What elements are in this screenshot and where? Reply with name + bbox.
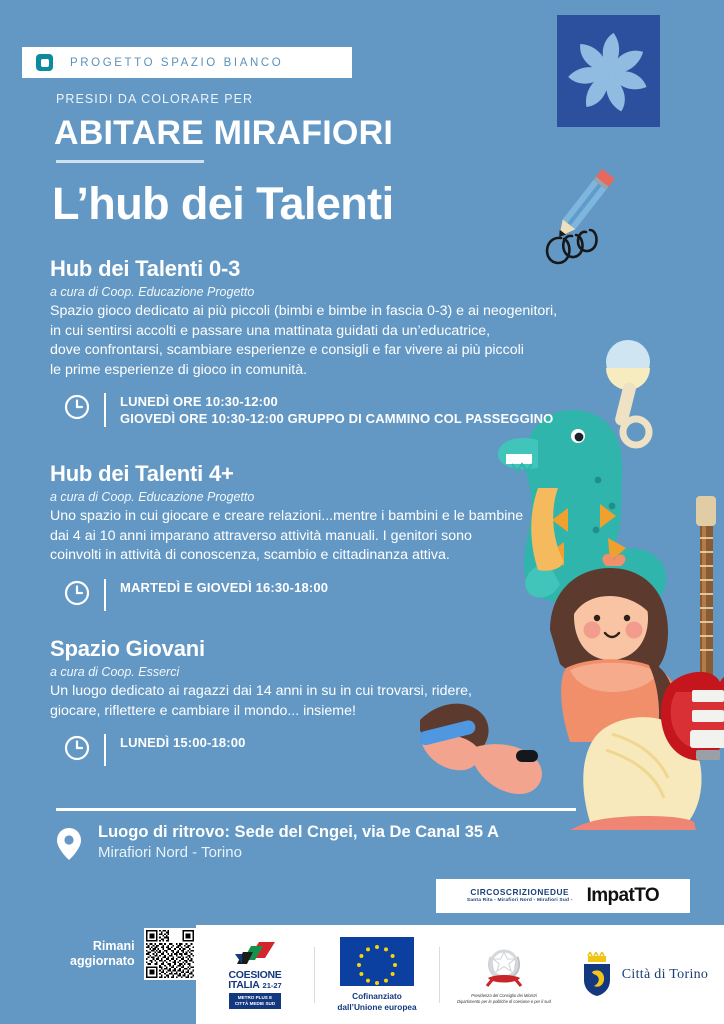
brand-label: PROGETTO SPAZIO BIANCO — [70, 57, 283, 69]
footer-logo-bar: COESIONE ITALIA 21-27 METRO PLUS E CITTÀ… — [196, 925, 724, 1024]
section-subtitle: a cura di Coop. Esserci — [50, 665, 610, 679]
section-title: Hub dei Talenti 0-3 — [50, 256, 610, 282]
schedule-text: LUNEDÌ 15:00-18:00 — [120, 734, 246, 751]
coesione-year: 21-27 — [263, 981, 282, 990]
schedule-row: LUNEDÌ 15:00-18:00 — [50, 734, 610, 766]
title-underline — [56, 160, 204, 163]
eu-caption: Cofinanziato dall’Unione europea — [337, 991, 416, 1012]
coesione-ribbon: METRO PLUS E CITTÀ MEDIE SUD — [229, 993, 281, 1010]
pinwheel-logo — [557, 15, 660, 127]
location-address: Luogo di ritrovo: Sede del Cngei, via De… — [98, 823, 499, 842]
section-title: Hub dei Talenti 4+ — [50, 461, 610, 487]
coesione-mark-icon — [231, 940, 279, 970]
location-divider — [56, 808, 576, 811]
schedule-line: GIOVEDÌ ORE 10:30-12:00 GRUPPO DI CAMMIN… — [120, 410, 553, 427]
pencil-doodle-icon — [520, 160, 630, 270]
body-line: le prime esperienze di gioco in comunità… — [50, 361, 610, 381]
rattle-illustration — [606, 340, 650, 445]
coesione-italia-logo: COESIONE ITALIA 21-27 METRO PLUS E CITTÀ… — [196, 940, 314, 1010]
schedule-line: MARTEDÌ E GIOVEDÌ 16:30-18:00 — [120, 579, 328, 596]
clock-icon — [64, 580, 90, 611]
section-hub-4plus: Hub dei Talenti 4+ a cura di Coop. Educa… — [50, 461, 610, 611]
divider — [104, 734, 106, 766]
coesione-line2: ITALIA — [228, 980, 259, 991]
section-body: Spazio gioco dedicato ai più piccoli (bi… — [50, 302, 610, 380]
body-line: Uno spazio in cui giocare e creare relaz… — [50, 507, 610, 527]
body-line: coinvolti in attività di conoscenza, sca… — [50, 546, 610, 566]
kicker-text: PRESIDI DA COLORARE PER — [56, 92, 253, 106]
body-line: Spazio gioco dedicato ai più piccoli (bi… — [50, 302, 610, 322]
page-title: ABITARE MIRAFIORI — [54, 114, 393, 153]
qr-block: Rimani aggiornato — [70, 928, 196, 980]
torino-caption: Città di Torino — [622, 967, 708, 983]
section-subtitle: a cura di Coop. Educazione Progetto — [50, 285, 610, 299]
schedule-line: LUNEDÌ ORE 10:30-12:00 — [120, 393, 553, 410]
pinwheel-icon — [557, 15, 660, 127]
location-block: Luogo di ritrovo: Sede del Cngei, via De… — [56, 823, 499, 866]
emblem-italy-icon — [480, 944, 528, 990]
qr-code-icon[interactable] — [144, 928, 196, 980]
body-line: dove confrontarsi, scambiare esperienze … — [50, 341, 610, 361]
ribbon-line: CITTÀ MEDIE SUD — [235, 1001, 275, 1007]
qr-label-line: aggiornato — [70, 954, 135, 969]
section-body: Uno spazio in cui giocare e creare relaz… — [50, 507, 610, 566]
eu-caption-line: dall’Unione europea — [337, 1002, 416, 1013]
torino-crest-icon — [578, 952, 616, 998]
poster-canvas: PROGETTO SPAZIO BIANCO PRESIDI DA COLORA… — [0, 0, 724, 1024]
citta-di-torino-logo: Città di Torino — [568, 952, 718, 998]
qr-label: Rimani aggiornato — [70, 939, 135, 969]
location-city: Mirafiori Nord - Torino — [98, 844, 499, 861]
divider — [104, 579, 106, 611]
ribbon-line: METRO PLUS E — [235, 995, 275, 1001]
section-spazio-giovani: Spazio Giovani a cura di Coop. Esserci U… — [50, 636, 610, 766]
guitar-illustration — [661, 496, 724, 760]
body-line: giocare, riflettere e cambiare il mondo.… — [50, 702, 610, 722]
clock-icon — [64, 735, 90, 766]
schedule-row: MARTEDÌ E GIOVEDÌ 16:30-18:00 — [50, 579, 610, 611]
section-title: Spazio Giovani — [50, 636, 610, 662]
presidenza-consiglio-ministri-logo: Presidenza del Consiglio dei Ministri Di… — [440, 944, 568, 1004]
map-pin-icon — [56, 827, 82, 866]
circoscrizione-due-logo: CIRCOSCRIZIONEDUE Santa Rita - Mirafiori… — [467, 888, 573, 904]
eu-caption-line: Cofinanziato — [337, 991, 416, 1002]
partner-strip: CIRCOSCRIZIONEDUE Santa Rita - Mirafiori… — [436, 879, 690, 913]
impatto-logo: ImpatTO — [587, 885, 660, 907]
schedule-text: LUNEDÌ ORE 10:30-12:00 GIOVEDÌ ORE 10:30… — [120, 393, 553, 427]
circoscrizione-subtitle: Santa Rita - Mirafiori Nord - Mirafiori … — [467, 899, 573, 904]
clock-icon — [64, 394, 90, 425]
rounded-square-icon — [36, 54, 53, 71]
hub-title: L’hub dei Talenti — [52, 178, 393, 230]
circoscrizione-title: CIRCOSCRIZIONEDUE — [467, 888, 573, 896]
section-subtitle: a cura di Coop. Educazione Progetto — [50, 490, 610, 504]
body-line: dai 4 ai 10 anni imparano attraverso att… — [50, 527, 610, 547]
schedule-text: MARTEDÌ E GIOVEDÌ 16:30-18:00 — [120, 579, 328, 596]
presidenza-caption-line: Dipartimento per le politiche di coesion… — [457, 999, 551, 1005]
eu-flag-icon — [340, 937, 414, 986]
section-body: Un luogo dedicato ai ragazzi dai 14 anni… — [50, 682, 610, 721]
body-line: in cui sentirsi accolti e passare una ma… — [50, 322, 610, 342]
project-brand-bar: PROGETTO SPAZIO BIANCO — [22, 47, 352, 78]
schedule-row: LUNEDÌ ORE 10:30-12:00 GIOVEDÌ ORE 10:30… — [50, 393, 610, 427]
european-union-logo: Cofinanziato dall’Unione europea — [315, 937, 439, 1012]
qr-label-line: Rimani — [70, 939, 135, 954]
divider — [104, 393, 106, 427]
presidenza-caption: Presidenza del Consiglio dei Ministri Di… — [457, 993, 551, 1004]
section-hub-0-3: Hub dei Talenti 0-3 a cura di Coop. Educ… — [50, 256, 610, 427]
body-line: Un luogo dedicato ai ragazzi dai 14 anni… — [50, 682, 610, 702]
schedule-line: LUNEDÌ 15:00-18:00 — [120, 734, 246, 751]
